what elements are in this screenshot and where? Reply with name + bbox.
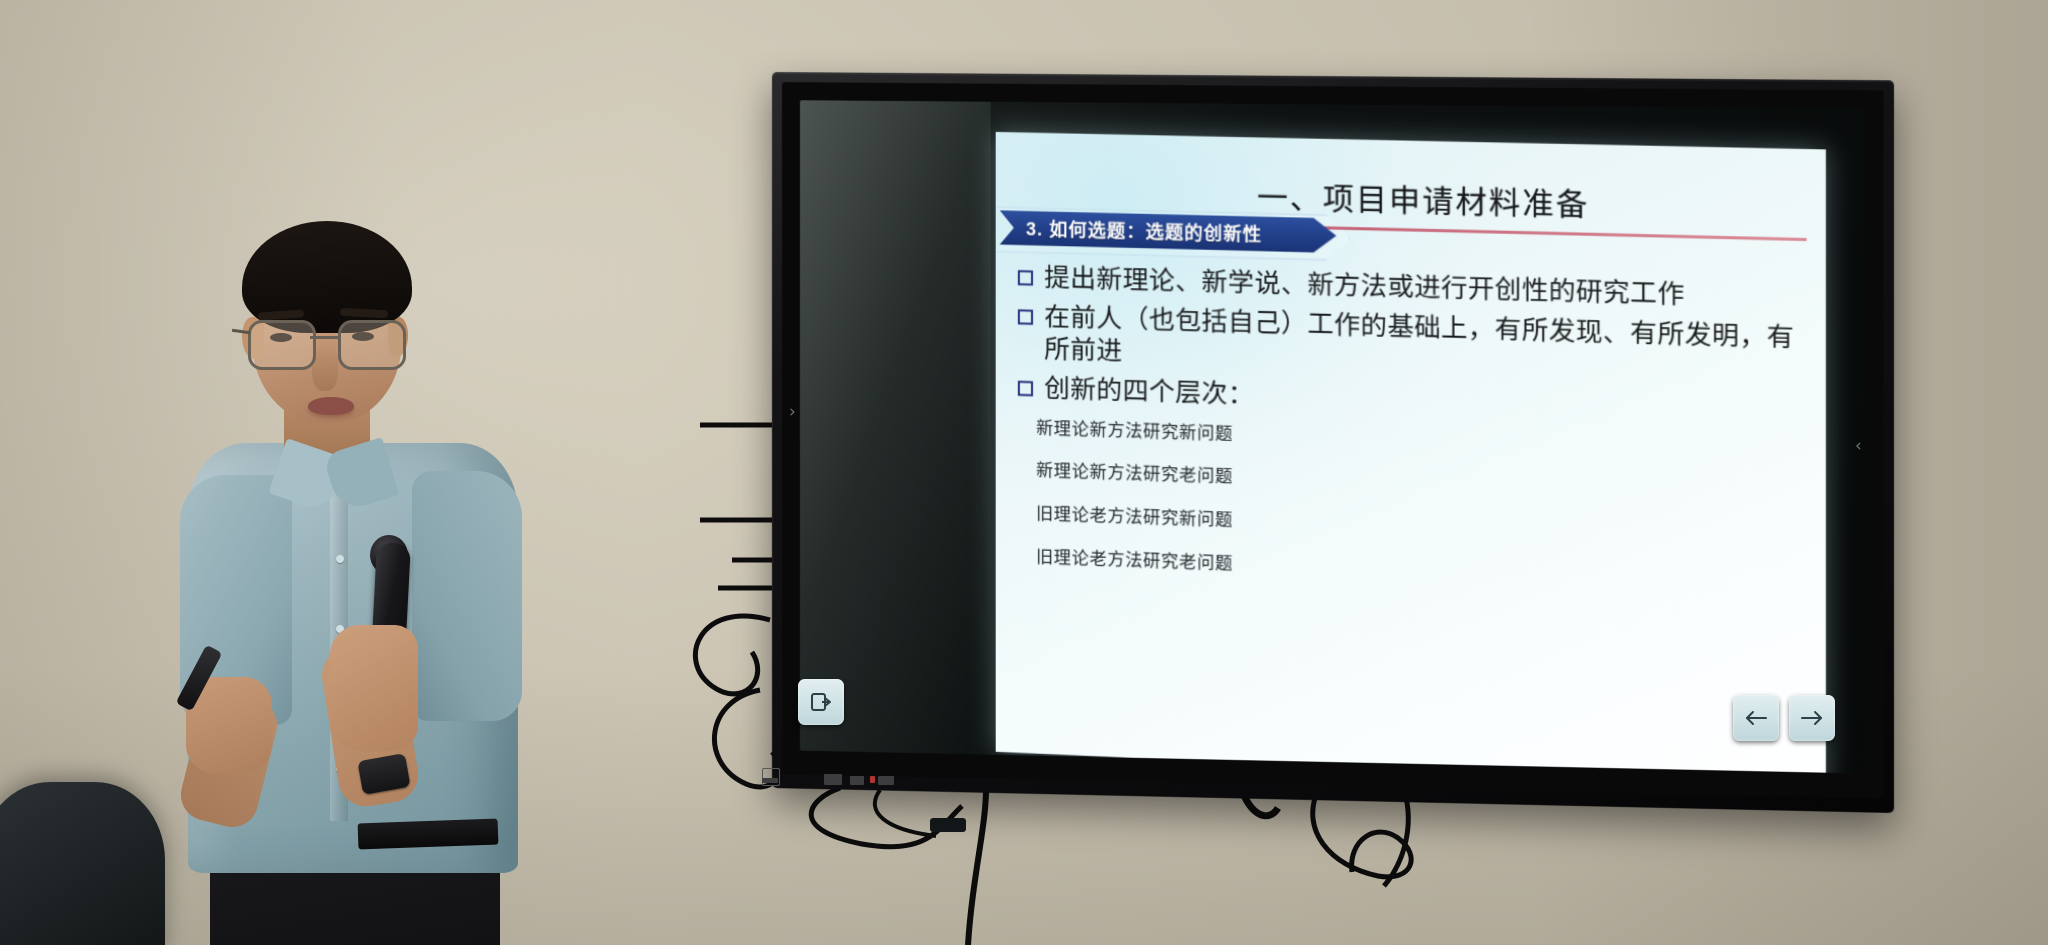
presenter-belt bbox=[358, 819, 499, 850]
eyeglass-temple-arm bbox=[232, 329, 250, 334]
eyeglass-lens-left bbox=[248, 320, 316, 370]
eyeglass-bridge bbox=[310, 336, 338, 339]
bullet-text: 创新的四个层次： bbox=[1044, 372, 1254, 411]
presenter-hand-right bbox=[330, 625, 418, 751]
eyeglass-lens-right bbox=[338, 320, 406, 370]
previous-slide-button[interactable] bbox=[1733, 695, 1779, 741]
display-port-strip bbox=[762, 774, 912, 788]
eyeglasses bbox=[246, 320, 412, 366]
sub-item: 旧理论老方法研究新问题 bbox=[1036, 505, 1807, 551]
sub-item: 新理论新方法研究新问题 bbox=[1036, 419, 1807, 463]
exit-screen-button[interactable] bbox=[798, 679, 844, 725]
office-chair bbox=[0, 782, 165, 945]
presenter-mouth bbox=[308, 397, 354, 415]
display-bezel: 一、项目申请材料准备 3. 如何选题：选题的创新性 提出新理论、新学说、新方法或… bbox=[772, 72, 1894, 813]
presentation-photo-scene: 一、项目申请材料准备 3. 如何选题：选题的创新性 提出新理论、新学说、新方法或… bbox=[0, 0, 2048, 945]
shirt-button bbox=[336, 555, 344, 563]
sub-item: 新理论新方法研究老问题 bbox=[1036, 462, 1807, 507]
sub-item-list: 新理论新方法研究新问题 新理论新方法研究老问题 旧理论老方法研究新问题 旧理论老… bbox=[1018, 418, 1807, 595]
square-outline-icon bbox=[1018, 270, 1033, 285]
arrow-left-icon bbox=[1743, 708, 1769, 728]
interactive-display: 一、项目申请材料准备 3. 如何选题：选题的创新性 提出新理论、新学说、新方法或… bbox=[772, 72, 1870, 788]
chevron-left-icon: ‹ bbox=[1855, 436, 1862, 456]
chevron-right-icon: › bbox=[789, 402, 796, 422]
sub-item: 旧理论老方法研究老问题 bbox=[1036, 548, 1807, 595]
exit-screen-icon bbox=[808, 689, 834, 715]
screen-glare bbox=[800, 100, 991, 754]
arrow-right-icon bbox=[1799, 708, 1825, 728]
display-screen[interactable]: 一、项目申请材料准备 3. 如何选题：选题的创新性 提出新理论、新学说、新方法或… bbox=[800, 100, 1865, 773]
slide-surface: 一、项目申请材料准备 3. 如何选题：选题的创新性 提出新理论、新学说、新方法或… bbox=[996, 132, 1826, 774]
square-outline-icon bbox=[1018, 309, 1033, 325]
bullet-list: 提出新理论、新学说、新方法或进行开创性的研究工作 在前人（也包括自己）工作的基础… bbox=[1018, 261, 1807, 620]
square-outline-icon bbox=[1018, 381, 1033, 397]
display-bezel-inner: 一、项目申请材料准备 3. 如何选题：选题的创新性 提出新理论、新学说、新方法或… bbox=[782, 82, 1884, 798]
presenter bbox=[180, 225, 600, 945]
presenter-sleeve-right bbox=[412, 471, 522, 721]
next-slide-button[interactable] bbox=[1789, 695, 1835, 741]
